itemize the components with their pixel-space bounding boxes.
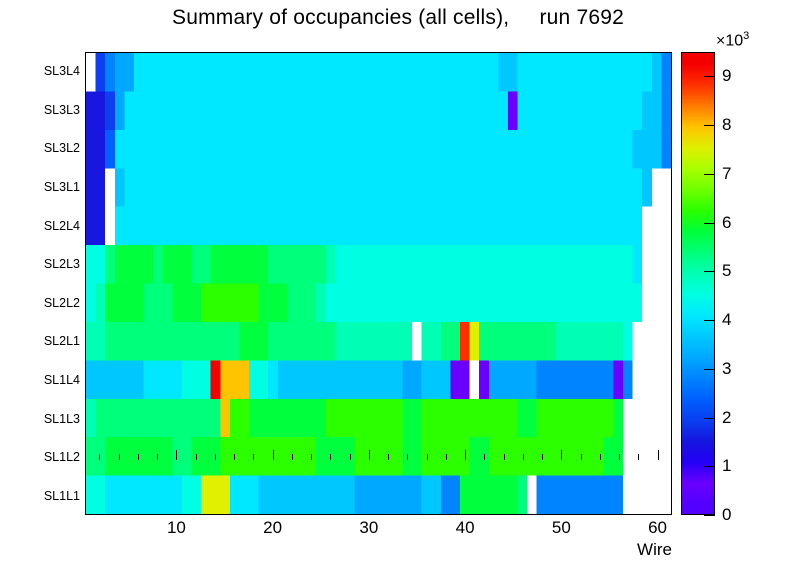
colorbar-tick-label-2: 2 (722, 408, 731, 428)
colorbar-tick (704, 418, 715, 419)
colorbar-tick (704, 76, 715, 77)
colorbar-tick-label-5: 5 (722, 261, 731, 281)
colorbar-ticks: 0123456789 (0, 0, 796, 572)
colorbar-tick (704, 174, 715, 175)
colorbar-tick-label-4: 4 (722, 310, 731, 330)
colorbar-tick (704, 320, 715, 321)
colorbar-tick (704, 271, 715, 272)
colorbar-tick-label-9: 9 (722, 66, 731, 86)
colorbar-tick (704, 369, 715, 370)
colorbar-tick (704, 466, 715, 467)
colorbar-tick-label-1: 1 (722, 456, 731, 476)
colorbar-tick (704, 515, 715, 516)
colorbar-tick (704, 223, 715, 224)
colorbar-tick-label-6: 6 (722, 213, 731, 233)
colorbar-tick-label-7: 7 (722, 164, 731, 184)
colorbar-tick-label-8: 8 (722, 115, 731, 135)
colorbar-tick-label-0: 0 (722, 505, 731, 525)
colorbar-tick-label-3: 3 (722, 359, 731, 379)
colorbar-tick (704, 125, 715, 126)
